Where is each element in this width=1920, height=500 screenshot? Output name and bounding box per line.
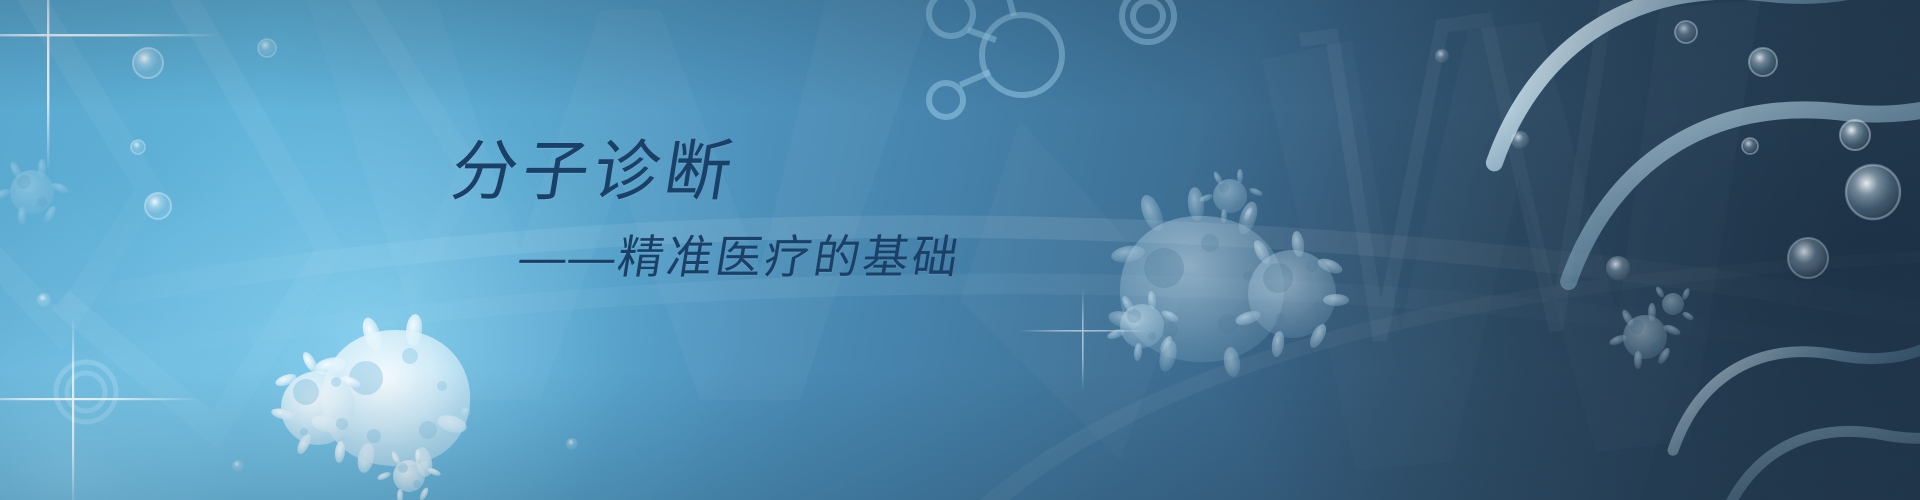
molecular-diagnostics-banner: 分子诊断 ——精准医疗的基础 <box>0 0 1920 500</box>
background-edge-vignette <box>0 0 1920 500</box>
